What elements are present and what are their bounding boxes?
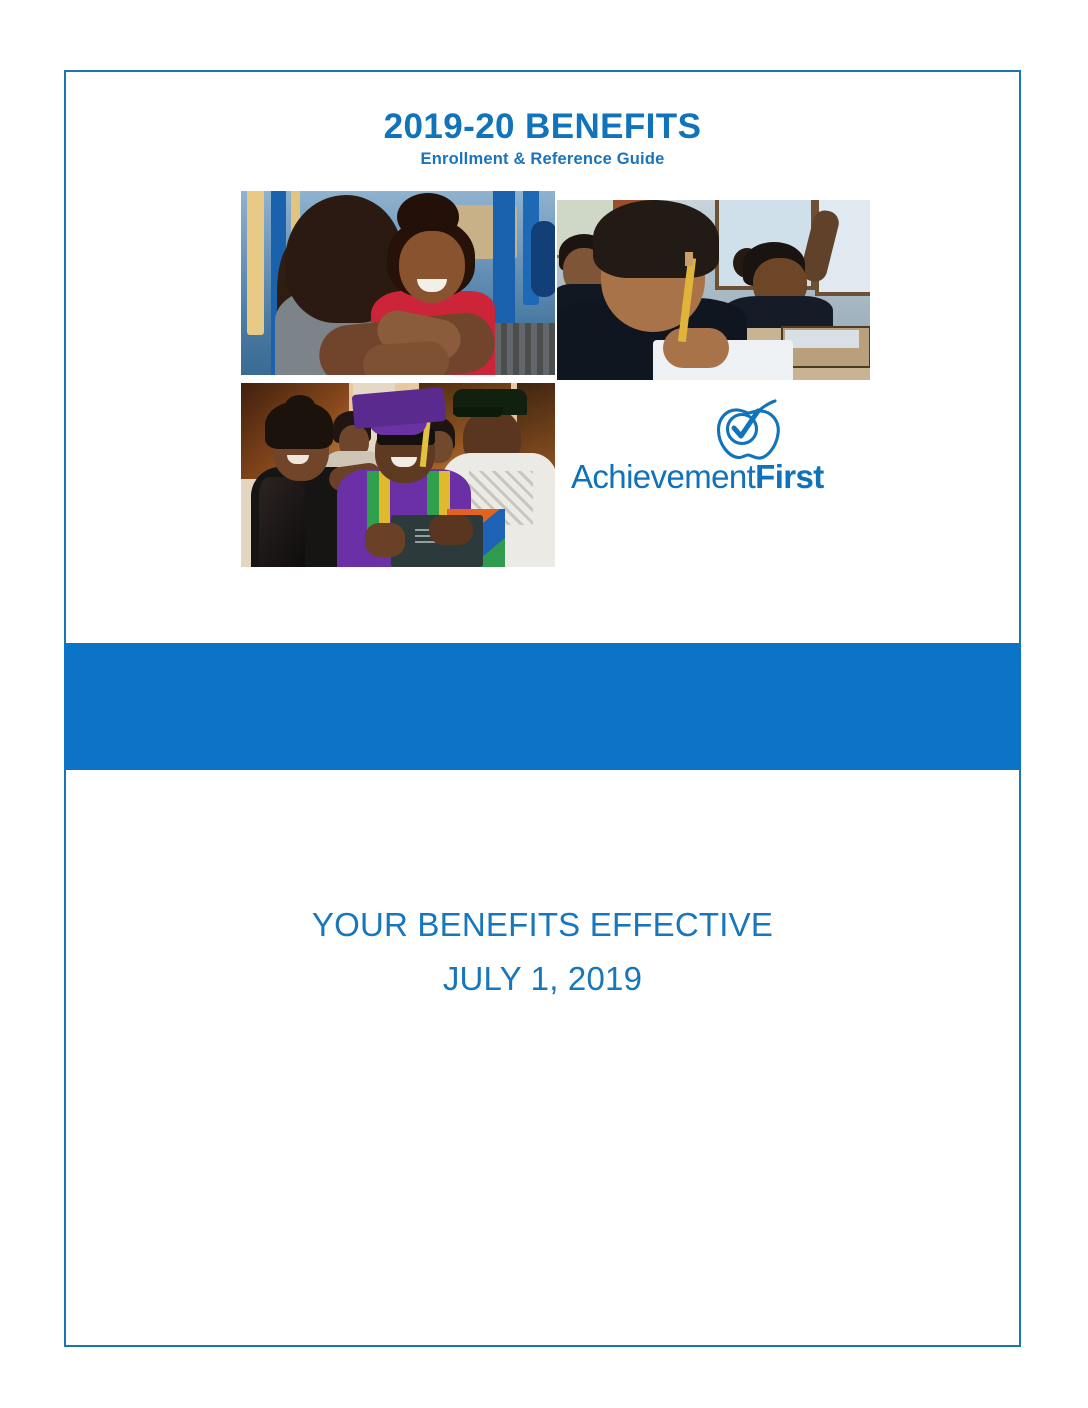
man-cap-brim	[453, 407, 503, 417]
brand-name-regular: Achievement	[571, 458, 755, 495]
playground-post	[247, 191, 264, 335]
blue-accent-band	[64, 643, 1021, 770]
effective-date-block: YOUR BENEFITS EFFECTIVE JULY 1, 2019	[64, 898, 1021, 1007]
document-page: 2019-20 BENEFITS Enrollment & Reference …	[0, 0, 1088, 1408]
brand-name-bold: First	[755, 458, 824, 495]
hand	[362, 340, 451, 375]
achievement-first-logo: AchievementFirst	[571, 398, 861, 510]
playground-hug-photo	[241, 191, 555, 375]
graduate-hand	[365, 523, 405, 557]
effective-line-1: YOUR BENEFITS EFFECTIVE	[64, 898, 1021, 952]
effective-line-2: JULY 1, 2019	[64, 952, 1021, 1006]
graduation-photo	[241, 383, 555, 567]
student-hair	[593, 200, 719, 278]
brand-wordmark: AchievementFirst	[571, 460, 861, 493]
woman-hair-bun	[285, 395, 315, 417]
student-hand	[663, 328, 729, 368]
girl-face	[399, 231, 465, 303]
page-title: 2019-20 BENEFITS	[66, 108, 1019, 147]
pencil-tip	[685, 252, 693, 266]
playground-slide	[531, 221, 555, 297]
page-subtitle: Enrollment & Reference Guide	[66, 150, 1019, 169]
classroom-writing-photo	[557, 200, 870, 380]
man-arm	[429, 515, 473, 545]
apple-checkmark-icon	[711, 398, 785, 462]
textbook-page	[785, 330, 859, 348]
woman-leather-jacket	[259, 477, 305, 567]
